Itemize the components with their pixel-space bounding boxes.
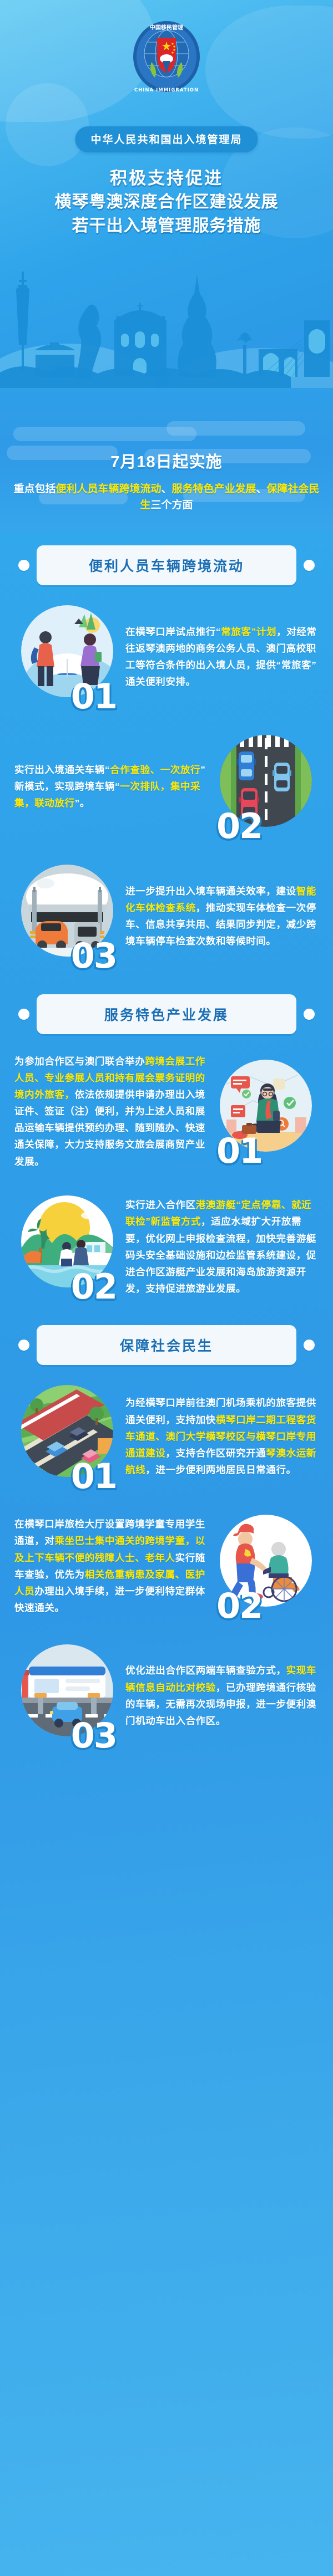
measure-text: 为参加合作区与澳门联合举办跨境会展工作人员、专业参展人员和持有展会票务证明的境内… — [14, 1053, 208, 1170]
measure-illustration: 01 — [14, 1384, 120, 1489]
measure-text-part: 为参加合作区与澳门联合举办 — [14, 1056, 145, 1067]
measure-number: 01 — [216, 1134, 262, 1168]
summary-suffix: 三个方面 — [151, 499, 193, 511]
page-title: 积极支持促进 横琴粤澳深度合作区建设发展 若干出入境管理服务措施 — [0, 166, 333, 238]
measure-card: 为经横琴口岸前往澳门机场乘机的旅客提供通关便利，支持加快横琴口岸二期工程客货车通… — [0, 1372, 333, 1501]
measure-card: 优化进出合作区两端车辆查验方式，实现车辆信息自动比对校验，已办理跨境通行核验的车… — [0, 1631, 333, 1761]
title-line-2: 横琴粤澳深度合作区建设发展 — [8, 191, 325, 214]
title-line-1: 积极支持促进 — [8, 166, 325, 191]
measure-text: 在横琴口岸旅检大厅设置跨境学童专用学生通道，对乘坐巴士集中通关的跨境学童，以及上… — [14, 1516, 208, 1616]
measure-text: 实行进入合作区港澳游艇“定点停靠、就近联检”新监管方式，适应水域扩大开放需要，优… — [125, 1197, 319, 1297]
section-title-text: 保障社会民生 — [120, 1335, 213, 1355]
decorative-blob — [6, 83, 89, 166]
measure-illustration: 03 — [14, 863, 120, 969]
section-title-band: 服务特色产业发展 — [0, 993, 333, 1035]
section-title-plate: 保障社会民生 — [37, 1325, 296, 1365]
organization-name: 中华人民共和国出入境管理局 — [75, 126, 258, 152]
measure-number: 03 — [71, 939, 117, 973]
measure-text-part: 在横琴口岸试点推行“ — [125, 626, 221, 637]
measure-illustration: 02 — [213, 734, 319, 839]
measure-text-part: ，适应水域扩大开放需要，优化网上申报检查流程，加快完善游艇码头安全基础设施和边检… — [125, 1216, 316, 1294]
section-header-3: 保障社会民生 — [0, 1312, 333, 1372]
measure-illustration: 02 — [213, 1514, 319, 1619]
section-title-text: 服务特色产业发展 — [104, 1004, 229, 1024]
measure-card: 为参加合作区与澳门联合举办跨境会展工作人员、专业参展人员和持有展会票务证明的境内… — [0, 1041, 333, 1182]
band-dot-left-icon — [18, 1340, 29, 1351]
band-dot-left-icon — [18, 560, 29, 571]
band-dot-left-icon — [18, 1009, 29, 1020]
section-title-plate: 服务特色产业发展 — [37, 994, 296, 1034]
effective-date: 7月18日起实施 — [0, 449, 333, 472]
measure-text: 在横琴口岸试点推行“常旅客”计划，对经常往返琴澳两地的商务公务人员、澳门高校职工… — [125, 623, 319, 690]
measure-number: 03 — [71, 1719, 117, 1753]
svg-text:CHINA IMMIGRATION: CHINA IMMIGRATION — [134, 88, 199, 93]
measure-text-part: 办理出入境手续，进一步便利特定群体快速通关。 — [14, 1586, 205, 1613]
measure-card: 在横琴口岸旅检大厅设置跨境学童专用学生通道，对乘坐巴士集中通关的跨境学童，以及上… — [0, 1501, 333, 1631]
measure-text: 优化进出合作区两端车辆查验方式，实现车辆信息自动比对校验，已办理跨境通行核验的车… — [125, 1662, 319, 1729]
measure-card: 在横琴口岸试点推行“常旅客”计划，对经常往返琴澳两地的商务公务人员、澳门高校职工… — [0, 592, 333, 722]
band-dot-right-icon — [304, 560, 315, 571]
section-title-plate: 便利人员车辆跨境流动 — [37, 545, 296, 585]
measure-text-part: ”。 — [75, 798, 90, 809]
measure-card: 实行进入合作区港澳游艇“定点停靠、就近联检”新监管方式，适应水域扩大开放需要，优… — [0, 1182, 333, 1312]
section-title-band: 便利人员车辆跨境流动 — [0, 544, 333, 586]
cloud-decoration — [167, 421, 305, 436]
summary-sep-2: 、 — [256, 483, 267, 495]
summary-text: 重点包括便利人员车辆跨境流动、服务特色产业发展、保障社会民生三个方面 — [0, 481, 333, 514]
measure-number: 02 — [216, 1589, 262, 1623]
sections-container: 便利人员车辆跨境流动在横琴口岸试点推行“常旅客”计划，对经常往返琴澳两地的商务公… — [0, 532, 333, 1761]
summary-highlight-1: 便利人员车辆跨境流动 — [56, 483, 161, 495]
measure-card: 实行出入境通关车辆“合作查验、一次放行”新模式，实现跨境车辆“一次排队，集中采集… — [0, 722, 333, 851]
measure-text-part: ，支持合作区研究开通 — [165, 1448, 266, 1459]
measure-text: 实行出入境通关车辆“合作查验、一次放行”新模式，实现跨境车辆“一次排队，集中采集… — [14, 761, 208, 811]
band-dot-right-icon — [304, 1340, 315, 1351]
section-title-text: 便利人员车辆跨境流动 — [89, 555, 244, 575]
measure-illustration: 02 — [14, 1194, 120, 1300]
section-title-band: 保障社会民生 — [0, 1324, 333, 1366]
hero-header: 中国移民管理 CHINA IMMIGRATION 中华人民共和国出入境管理局 积… — [0, 0, 333, 388]
summary-prefix: 重点包括 — [13, 483, 56, 495]
measure-illustration: 01 — [14, 604, 120, 709]
measure-text-part: 优化进出合作区两端车辆查验方式， — [125, 1665, 286, 1676]
measure-text-part: 依法依规提供申请办理出入境证件、签证（注）便利，并为上述人员和展品运输车辆提供预… — [14, 1089, 205, 1167]
measure-text: 进一步提升出入境车辆通关效率，建设智能化车体检查系统，推动实现车体检查一次停车、… — [125, 883, 319, 949]
measure-number: 02 — [71, 1270, 117, 1304]
measure-text-part: 常旅客 — [221, 626, 251, 637]
measure-text-part: 进一步提升出入境车辆通关效率，建设 — [125, 886, 296, 897]
effective-date-band: 7月18日起实施 重点包括便利人员车辆跨境流动、服务特色产业发展、保障社会民生三… — [0, 388, 333, 532]
measure-text-part: 合作查验、一次放行 — [110, 764, 200, 775]
measure-number: 01 — [71, 679, 117, 714]
summary-sep-1: 、 — [161, 483, 171, 495]
infographic-page: 中国移民管理 CHINA IMMIGRATION 中华人民共和国出入境管理局 积… — [0, 0, 333, 2576]
svg-text:中国移民管理: 中国移民管理 — [150, 24, 183, 31]
measure-text-part: 实行进入合作区 — [125, 1199, 196, 1210]
china-immigration-emblem-icon: 中国移民管理 CHINA IMMIGRATION — [130, 19, 203, 96]
measure-card: 进一步提升出入境车辆通关效率，建设智能化车体检查系统，推动实现车体检查一次停车、… — [0, 851, 333, 981]
measure-text-part: ”计划 — [251, 626, 277, 637]
summary-highlight-2: 服务特色产业发展 — [172, 483, 256, 495]
measure-illustration: 03 — [14, 1643, 120, 1749]
macau-skyline-icon — [0, 249, 333, 388]
title-line-3: 若干出入境管理服务措施 — [8, 214, 325, 238]
decorative-blob — [205, 6, 333, 139]
measure-number: 01 — [71, 1459, 117, 1494]
measure-text-part: ，进一步便利两地居民日常通行。 — [145, 1464, 296, 1475]
measure-illustration: 01 — [213, 1059, 319, 1164]
band-dot-right-icon — [304, 1009, 315, 1020]
measure-text-part: 实行出入境通关车辆“ — [14, 764, 110, 775]
measure-text: 为经横琴口岸前往澳门机场乘机的旅客提供通关便利，支持加快横琴口岸二期工程客货车通… — [125, 1394, 319, 1478]
section-header-1: 便利人员车辆跨境流动 — [0, 532, 333, 592]
section-header-2: 服务特色产业发展 — [0, 981, 333, 1041]
measure-number: 02 — [216, 809, 262, 844]
